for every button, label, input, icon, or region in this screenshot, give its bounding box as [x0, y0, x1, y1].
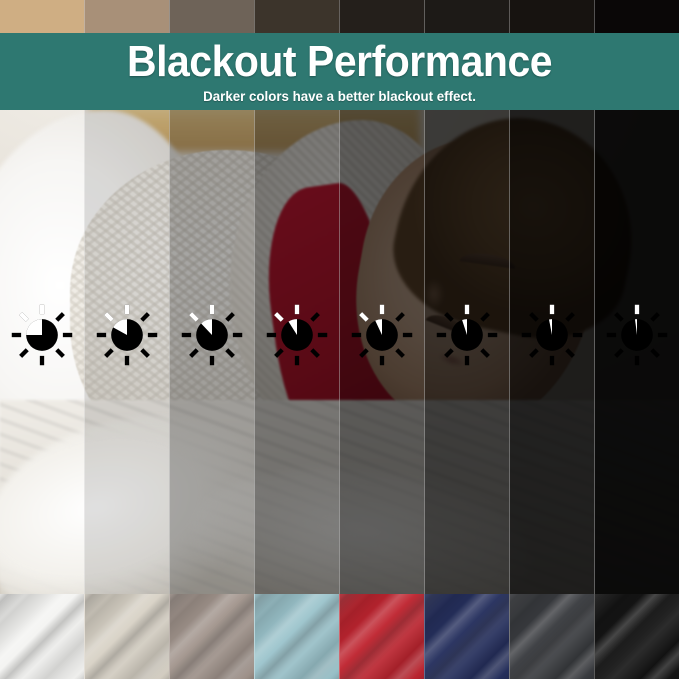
top-color-cell-black	[594, 0, 679, 34]
page-subtitle: Darker colors have a better blackout eff…	[203, 89, 476, 103]
fabric-swatch-strip	[0, 594, 679, 679]
top-color-strip	[0, 0, 679, 34]
top-color-cell-light-blue	[254, 0, 339, 34]
top-color-cell-red	[339, 0, 424, 34]
drape-shadow	[339, 594, 424, 679]
fabric-swatch-black[interactable]	[594, 594, 679, 679]
drape-shadow	[509, 594, 594, 679]
fabric-swatch-navy[interactable]	[424, 594, 509, 679]
drape-shadow	[594, 594, 679, 679]
drape-shadow	[169, 594, 254, 679]
drape-shadow	[424, 594, 509, 679]
top-color-cell-navy	[424, 0, 509, 34]
fabric-swatch-cream[interactable]	[84, 594, 169, 679]
fabric-swatch-light-blue[interactable]	[254, 594, 339, 679]
top-color-cell-taupe	[169, 0, 254, 34]
fabric-swatch-dark-grey[interactable]	[509, 594, 594, 679]
drape-shadow	[254, 594, 339, 679]
blackout-performance-infographic: Blackout Performance Darker colors have …	[0, 0, 679, 679]
top-color-cell-dark-grey	[509, 0, 594, 34]
drape-shadow	[0, 594, 84, 679]
page-title: Blackout Performance	[127, 40, 552, 84]
fabric-swatch-white[interactable]	[0, 594, 84, 679]
banner: Blackout Performance Darker colors have …	[0, 33, 679, 110]
top-color-cell-white	[0, 0, 84, 34]
top-color-cell-cream	[84, 0, 169, 34]
fabric-swatch-red[interactable]	[339, 594, 424, 679]
fabric-swatch-taupe[interactable]	[169, 594, 254, 679]
drape-shadow	[84, 594, 169, 679]
